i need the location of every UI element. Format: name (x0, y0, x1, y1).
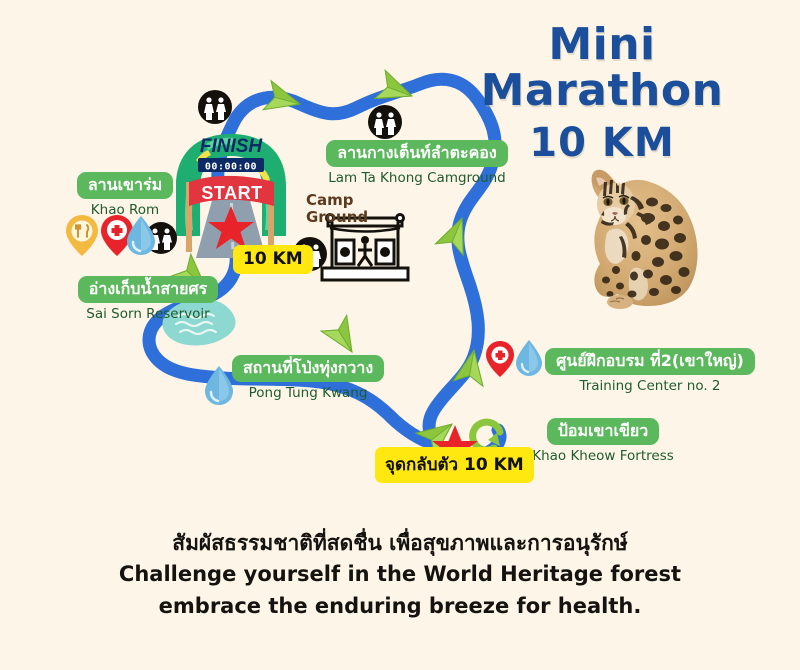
medical-pin-icon-training-center (486, 341, 514, 377)
place-label-pong-tung-kwang: สถานที่โป่งทุ่งกวาง Pong Tung Kwang (218, 355, 398, 401)
timer-value: 00:00:00 (205, 162, 257, 173)
restroom-icon-top-left (198, 90, 232, 124)
campground-note-line1: Camp (306, 191, 354, 209)
place-en-sai-sorn: Sai Sorn Reservoir (48, 306, 248, 322)
place-th-pong-tung-kwang: สถานที่โป่งทุ่งกวาง (232, 355, 384, 382)
tagline-line-3: embrace the enduring breeze for health. (0, 591, 800, 623)
race-timer: 00:00:00 (198, 158, 264, 173)
poster-canvas: FINISH 00:00:00 START (0, 0, 800, 670)
place-en-khao-kheow: Khao Kheow Fortress (508, 448, 698, 464)
place-label-training-center: ศูนย์ฝึกอบรม ที่2(เขาใหญ่) Training Cent… (540, 348, 760, 394)
water-drop-icon-khao-rom (127, 216, 155, 255)
start-label: START (201, 183, 262, 203)
place-en-pong-tung-kwang: Pong Tung Kwang (218, 385, 398, 401)
place-label-khao-rom: ลานเขาร่ม Khao Rom (50, 172, 200, 218)
place-en-training-center: Training Center no. 2 (540, 378, 760, 394)
water-drop-icon-training-center (516, 340, 542, 376)
title-main-text: Mini Marathon (432, 22, 772, 114)
place-label-khao-kheow: ป้อมเขาเขียว Khao Kheow Fortress (508, 418, 698, 464)
campground-note-line2: Ground (306, 208, 368, 226)
place-en-lam-ta-khong: Lam Ta Khong Camground (322, 170, 512, 186)
place-th-khao-rom: ลานเขาร่ม (77, 172, 173, 199)
turnaround-badge: จุดกลับตัว 10 KM (375, 447, 534, 483)
place-label-lam-ta-khong: ลานกางเต็นท์ลำตะคอง Lam Ta Khong Camgrou… (322, 140, 512, 186)
place-th-lam-ta-khong: ลานกางเต็นท์ลำตะคอง (326, 140, 507, 167)
place-th-training-center: ศูนย์ฝึกอบรม ที่2(เขาใหญ่) (545, 348, 755, 375)
place-en-khao-rom: Khao Rom (50, 202, 200, 218)
finish-label: FINISH (200, 136, 264, 157)
distance-badge-start: 10 KM (233, 245, 313, 274)
food-pin-icon (66, 215, 98, 256)
tagline-line-1: สัมผัสธรรมชาติที่สดชื่น เพื่อสุขภาพและกา… (0, 528, 800, 560)
restroom-icon-campground (368, 105, 402, 139)
tagline-line-2: Challenge yourself in the World Heritage… (0, 559, 800, 591)
leopard-cat-photo (548, 152, 748, 327)
poster-tagline: สัมผัสธรรมชาติที่สดชื่น เพื่อสุขภาพและกา… (0, 528, 800, 623)
medical-pin-icon (101, 215, 133, 256)
place-th-khao-kheow: ป้อมเขาเขียว (547, 418, 659, 445)
campground-note: Camp Ground (306, 192, 368, 227)
place-label-sai-sorn: อ่างเก็บน้ำสายศร Sai Sorn Reservoir (48, 276, 248, 322)
place-th-sai-sorn: อ่างเก็บน้ำสายศร (78, 276, 219, 303)
